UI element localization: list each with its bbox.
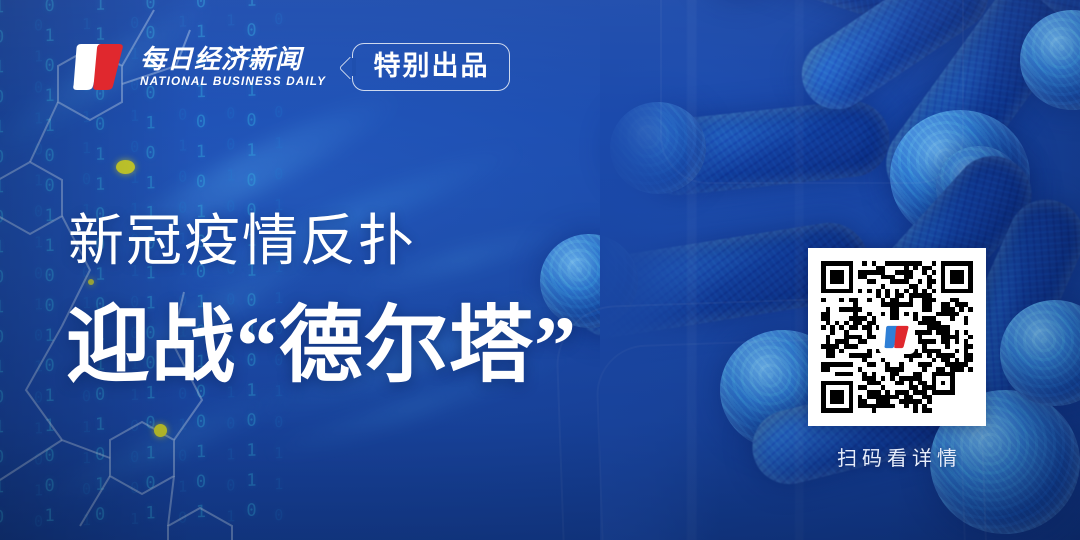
speech-bubble-tail-mask (352, 58, 356, 76)
qr-caption: 扫码看详情 (808, 442, 986, 471)
nbd-m-mark-icon (879, 320, 915, 354)
special-edition-badge[interactable]: 特别出品 (352, 43, 510, 91)
brand-name-en: NATIONAL BUSINESS DAILY (140, 76, 326, 88)
headline-subtitle: 新冠疫情反扑 (68, 214, 416, 270)
brand-header: 每日经济新闻 NATIONAL BUSINESS DAILY 特别出品 (68, 36, 510, 98)
qr-code-icon[interactable] (808, 248, 986, 426)
headline-title: 迎战“德尔塔” (66, 305, 577, 389)
special-edition-badge-label: 特别出品 (373, 51, 489, 82)
qr-code-matrix (821, 261, 973, 413)
brand-wordmark: 每日经济新闻 NATIONAL BUSINESS DAILY (140, 46, 322, 88)
brand-name-cn: 每日经济新闻 (140, 46, 322, 73)
speech-bubble-tail-icon (339, 56, 362, 79)
nbd-m-mark-icon[interactable] (68, 36, 130, 98)
qr-block[interactable]: 扫码看详情 (808, 248, 986, 471)
poster-canvas: 0 1 0 1 1 0 1 0 1 0 0 1 0 0 0 1 1 1 1 1 … (0, 0, 1080, 540)
